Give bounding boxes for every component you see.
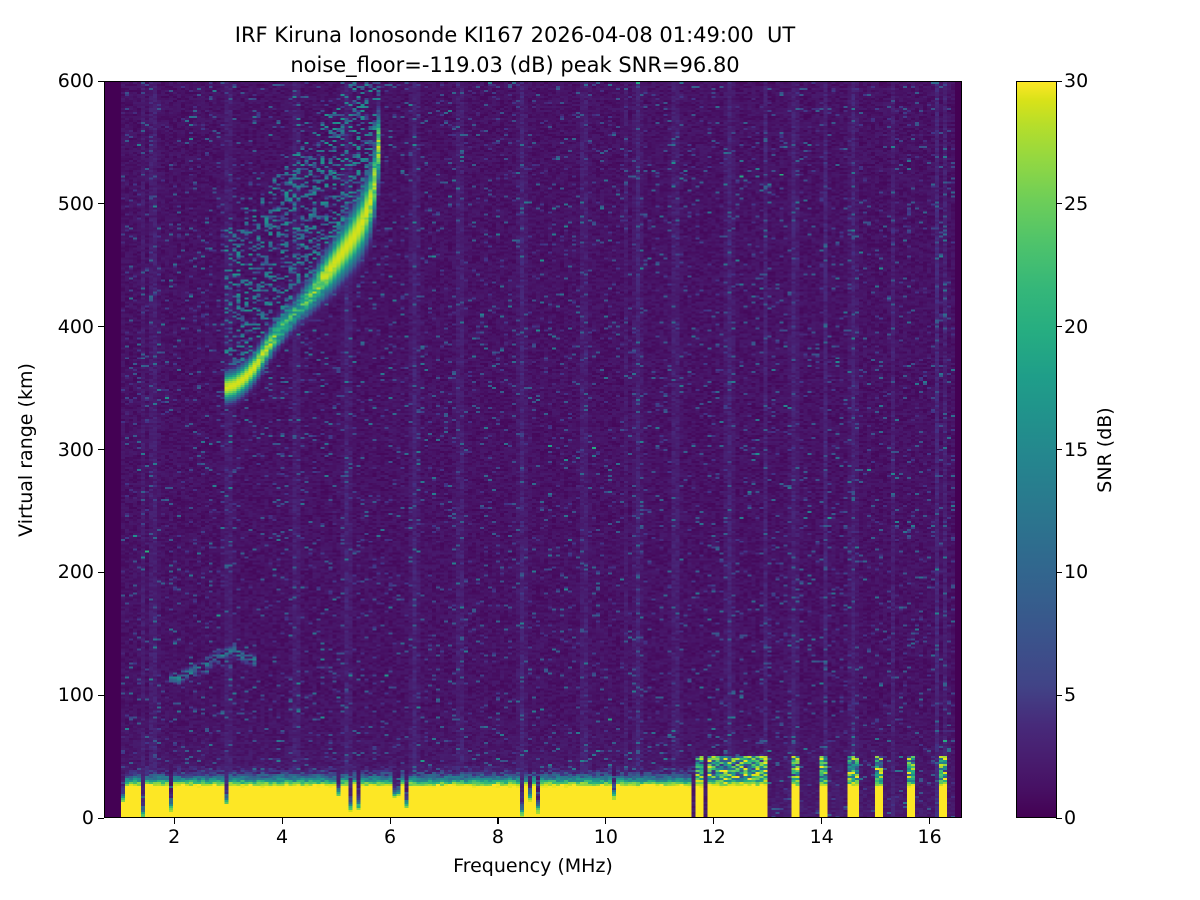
figure-title: IRF Kiruna Ionosonde KI167 2026-04-08 01… bbox=[0, 20, 1030, 80]
x-tick-label: 12 bbox=[702, 826, 726, 848]
x-tick-mark bbox=[929, 818, 930, 824]
y-axis: Virtual range (km) bbox=[28, 81, 30, 818]
colorbar-tick-mark bbox=[1056, 695, 1062, 696]
y-tick-mark bbox=[98, 81, 104, 82]
colorbar-tick-mark bbox=[1056, 818, 1062, 819]
colorbar-tick-label: 15 bbox=[1064, 439, 1088, 461]
y-tick-label: 200 bbox=[58, 561, 94, 583]
y-axis-label: Virtual range (km) bbox=[15, 363, 37, 537]
colorbar-tick-label: 30 bbox=[1064, 70, 1088, 92]
x-tick-label: 10 bbox=[594, 826, 618, 848]
x-axis-label: Frequency (MHz) bbox=[104, 855, 962, 877]
y-tick-label: 600 bbox=[58, 70, 94, 92]
y-tick-mark bbox=[98, 449, 104, 450]
colorbar-label: SNR (dB) bbox=[1094, 407, 1116, 492]
colorbar bbox=[1016, 81, 1057, 818]
y-tick-mark bbox=[98, 695, 104, 696]
ionogram-figure: IRF Kiruna Ionosonde KI167 2026-04-08 01… bbox=[0, 0, 1200, 900]
y-tick-mark bbox=[98, 572, 104, 573]
colorbar-tick-mark bbox=[1056, 326, 1062, 327]
y-tick-label: 100 bbox=[58, 684, 94, 706]
x-tick-label: 8 bbox=[492, 826, 504, 848]
y-tick-label: 300 bbox=[58, 439, 94, 461]
x-tick-label: 16 bbox=[918, 826, 942, 848]
colorbar-tick-mark bbox=[1056, 572, 1062, 573]
x-tick-label: 4 bbox=[276, 826, 288, 848]
colorbar-tick-mark bbox=[1056, 81, 1062, 82]
colorbar-tick-mark bbox=[1056, 203, 1062, 204]
x-tick-label: 2 bbox=[168, 826, 180, 848]
y-tick-mark bbox=[98, 203, 104, 204]
colorbar-tick-label: 5 bbox=[1064, 684, 1076, 706]
x-tick-mark bbox=[174, 818, 175, 824]
ionogram-heatmap-plot[interactable] bbox=[104, 81, 962, 818]
y-tick-mark bbox=[98, 326, 104, 327]
x-tick-mark bbox=[282, 818, 283, 824]
y-tick-label: 0 bbox=[82, 807, 94, 829]
y-tick-label: 500 bbox=[58, 193, 94, 215]
colorbar-tick-label: 10 bbox=[1064, 561, 1088, 583]
x-tick-label: 14 bbox=[810, 826, 834, 848]
colorbar-tick-label: 0 bbox=[1064, 807, 1076, 829]
colorbar-tick-label: 20 bbox=[1064, 316, 1088, 338]
x-tick-mark bbox=[605, 818, 606, 824]
x-tick-mark bbox=[497, 818, 498, 824]
colorbar-tick-mark bbox=[1056, 449, 1062, 450]
x-tick-label: 6 bbox=[384, 826, 396, 848]
x-tick-mark bbox=[390, 818, 391, 824]
x-tick-mark bbox=[821, 818, 822, 824]
figure-title-line2: noise_floor=-119.03 (dB) peak SNR=96.80 bbox=[290, 53, 739, 77]
colorbar-tick-label: 25 bbox=[1064, 193, 1088, 215]
heatmap-canvas bbox=[105, 82, 961, 817]
colorbar-axis: SNR (dB) bbox=[1105, 81, 1107, 818]
x-tick-mark bbox=[713, 818, 714, 824]
y-tick-mark bbox=[98, 818, 104, 819]
figure-title-line1: IRF Kiruna Ionosonde KI167 2026-04-08 01… bbox=[235, 23, 795, 47]
y-tick-label: 400 bbox=[58, 316, 94, 338]
